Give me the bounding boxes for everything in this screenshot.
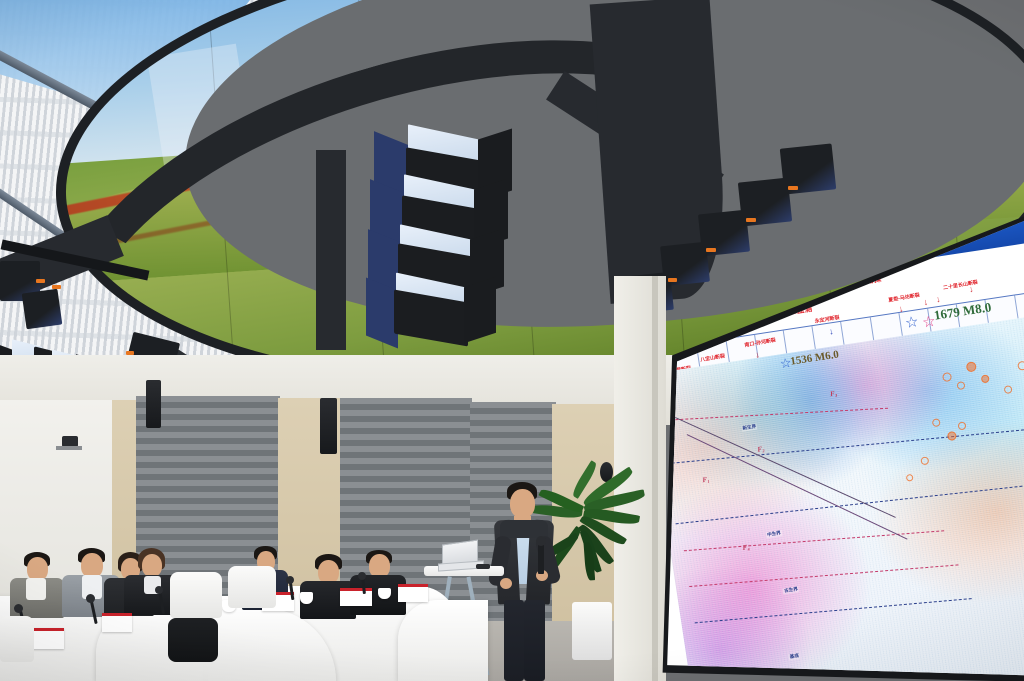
light-clamp [52,285,61,289]
presenter-leg-right [524,600,545,681]
head [142,554,162,577]
soft-light-cluster-center [382,132,512,342]
backpack [168,618,218,662]
seismic-profile-chart: F₁ F₂ F₃ F₄ 新生界 中生界 古生界 基底 [655,312,1024,681]
microphone-head-icon [358,572,366,580]
name-placard [398,584,428,602]
ceiling-speaker [320,398,337,454]
fault-label: 夏垫-马坊断裂 [888,292,920,304]
microphone-head-icon [536,536,546,546]
handheld-microphone[interactable] [538,542,544,574]
studio-scene: 一、地质探测需求 矿产资源探测、新能源（页岩油、气、煤层气、白氢、地热）勘探 关… [0,0,1024,681]
epicenter-star-icon: ☆ [904,315,920,332]
name-placard [32,628,64,649]
barn-door [464,277,496,343]
microphone-head-icon [14,604,23,613]
truss-drop-column [316,150,346,350]
name-placard [340,588,372,606]
presenter-head [510,489,535,518]
potted-palm [548,480,668,660]
slide-subtitle-line1: 矿产资源探测、新能源（页岩油、气、煤层气、白氢、地热）勘探 [657,273,882,318]
microphone-head-icon [286,576,294,584]
microphone-head-icon [155,586,163,594]
remote-clicker[interactable] [476,564,490,569]
coffee-cup [378,588,391,599]
presentation-screen-assembly[interactable]: 一、地质探测需求 矿产资源探测、新能源（页岩油、气、煤层气、白氢、地热）勘探 关… [655,212,1024,681]
name-placard [102,613,132,632]
plant-pot [572,602,612,660]
collar [26,578,46,600]
microphone-head-icon [86,594,95,603]
slide-title: 一、地质探测需求 [655,255,736,285]
fresnel-light [22,289,63,330]
ceiling-speaker [146,380,161,428]
presentation-screen[interactable]: 一、地质探测需求 矿产资源探测、新能源（页岩油、气、煤层气、白氢、地热）勘探 关… [655,212,1024,681]
chair [170,572,222,618]
chair [228,566,276,608]
audience-desk-right [398,600,488,681]
light-clamp [788,186,798,190]
camera-bracket [56,446,82,450]
light-clamp [36,279,45,283]
chair [0,616,34,662]
coffee-cup [300,592,313,604]
